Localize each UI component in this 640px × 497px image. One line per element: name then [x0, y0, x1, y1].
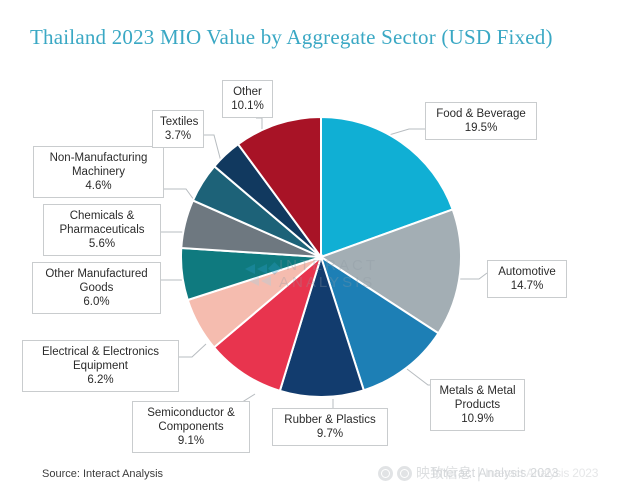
- callout-label: Food & Beverage: [436, 108, 526, 120]
- callout-percent: 3.7%: [160, 129, 196, 143]
- pie-svg: [180, 116, 462, 398]
- callout-percent: 19.5%: [433, 121, 529, 135]
- callout-electrical[interactable]: Electrical & Electronics Equipment 6.2%: [22, 340, 179, 392]
- callout-percent: 5.6%: [51, 237, 153, 251]
- callout-other[interactable]: Other 10.1%: [222, 80, 273, 118]
- callout-label: Other Manufactured: [45, 268, 147, 280]
- page-title: Thailand 2023 MIO Value by Aggregate Sec…: [30, 25, 553, 50]
- callout-automotive[interactable]: Automotive 14.7%: [487, 260, 567, 298]
- watermark-en-text: Interact Analysis 2023: [485, 466, 598, 480]
- paw-badge-icon: [378, 466, 393, 481]
- callout-percent: 14.7%: [495, 279, 559, 293]
- callout-label: Chemicals &: [70, 210, 135, 222]
- callout-label: Rubber & Plastics: [284, 414, 375, 426]
- callout-label2: Goods: [40, 281, 153, 295]
- callout-label: Automotive: [498, 266, 556, 278]
- callout-food-beverage[interactable]: Food & Beverage 19.5%: [425, 102, 537, 140]
- callout-percent: 10.9%: [438, 412, 517, 426]
- source-note: Source: Interact Analysis: [42, 468, 163, 480]
- callout-metals[interactable]: Metals & Metal Products 10.9%: [430, 379, 525, 431]
- pie-slice-group: [181, 117, 461, 397]
- pie-chart: [180, 116, 462, 398]
- at-badge-icon: [397, 466, 412, 481]
- bottom-watermark: 映致信息 | Interact Analysis 2023: [378, 462, 598, 484]
- callout-label: Semiconductor &: [147, 407, 235, 419]
- callout-percent: 4.6%: [41, 179, 156, 193]
- callout-semiconductor[interactable]: Semiconductor & Components 9.1%: [132, 401, 250, 453]
- callout-label2: Pharmaceuticals: [51, 223, 153, 237]
- callout-chemicals[interactable]: Chemicals & Pharmaceuticals 5.6%: [43, 204, 161, 256]
- callout-label2: Machinery: [41, 165, 156, 179]
- callout-percent: 6.2%: [30, 373, 171, 387]
- watermark-ghost-text: Interact Analysis 2023: [432, 466, 559, 480]
- watermark-cn-text: 映致信息 |: [416, 463, 481, 483]
- callout-label2: Products: [438, 398, 517, 412]
- chart-canvas: Thailand 2023 MIO Value by Aggregate Sec…: [0, 0, 640, 497]
- callout-percent: 9.7%: [280, 427, 380, 441]
- callout-label: Other: [233, 86, 262, 98]
- callout-label2: Components: [140, 420, 242, 434]
- callout-non-mfg-machinery[interactable]: Non-Manufacturing Machinery 4.6%: [33, 146, 164, 198]
- callout-textiles[interactable]: Textiles 3.7%: [152, 110, 204, 148]
- callout-label: Textiles: [160, 116, 198, 128]
- callout-label: Electrical & Electronics: [42, 346, 159, 358]
- callout-percent: 9.1%: [140, 434, 242, 448]
- callout-label: Non-Manufacturing: [50, 152, 148, 164]
- callout-label: Metals & Metal: [439, 385, 515, 397]
- callout-percent: 10.1%: [230, 99, 265, 113]
- callout-percent: 6.0%: [40, 295, 153, 309]
- callout-other-manufactured[interactable]: Other Manufactured Goods 6.0%: [32, 262, 161, 314]
- callout-label2: Equipment: [30, 359, 171, 373]
- callout-rubber-plastics[interactable]: Rubber & Plastics 9.7%: [272, 408, 388, 446]
